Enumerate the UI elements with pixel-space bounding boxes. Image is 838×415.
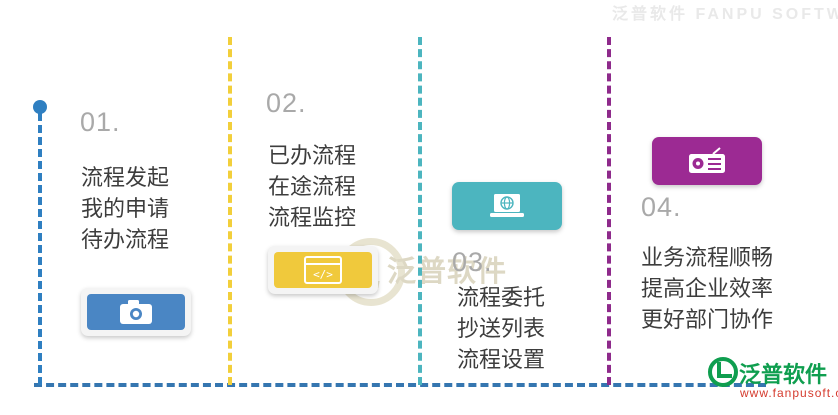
column-2-line — [228, 37, 232, 385]
column-2-number: 02. — [266, 88, 307, 119]
bottom-axis-line — [34, 383, 766, 387]
column-2-line-2: 在途流程 — [268, 172, 356, 203]
column-1-number: 01. — [80, 107, 121, 138]
code-icon-inner: </> — [274, 252, 372, 288]
svg-text:</>: </> — [313, 268, 333, 281]
infographic-canvas: 泛普软件 FANPU SOFTWARE 泛普软件 01. 流程发起 我的申请 待… — [0, 0, 838, 415]
column-4-number: 04. — [641, 192, 682, 223]
camera-icon-inner — [87, 294, 185, 330]
radio-icon — [687, 147, 727, 175]
column-4-line-3: 更好部门协作 — [641, 305, 773, 336]
column-1-text: 流程发起 我的申请 待办流程 — [81, 163, 169, 256]
brand-logo: 泛普软件 www.fanpusoft.com — [706, 355, 830, 405]
column-3-line — [418, 37, 422, 385]
column-3-number: 03. — [452, 247, 493, 278]
column-1-line-3: 待办流程 — [81, 225, 169, 256]
brand-name: 泛普软件 — [739, 357, 827, 389]
brand-ring-icon — [706, 355, 740, 389]
code-icon: </> — [304, 256, 342, 284]
camera-icon-card[interactable] — [81, 288, 191, 336]
column-3-line-2: 抄送列表 — [457, 314, 545, 345]
column-1-line-2: 我的申请 — [81, 194, 169, 225]
column-2-text: 已办流程 在途流程 流程监控 — [268, 141, 356, 234]
column-4-line-1: 业务流程顺畅 — [641, 243, 773, 274]
column-3-line-3: 流程设置 — [457, 345, 545, 376]
radio-icon-card[interactable] — [652, 137, 762, 185]
watermark-top-text: 泛普软件 FANPU SOFTWARE — [612, 0, 838, 24]
column-1-line-1: 流程发起 — [81, 163, 169, 194]
column-4-line — [607, 37, 611, 385]
column-3-text: 流程委托 抄送列表 流程设置 — [457, 283, 545, 376]
column-2-line-3: 流程监控 — [268, 203, 356, 234]
laptop-globe-icon-card[interactable] — [452, 182, 562, 230]
column-4-text: 业务流程顺畅 提高企业效率 更好部门协作 — [641, 243, 773, 336]
laptop-globe-icon — [489, 192, 525, 220]
camera-icon — [119, 299, 153, 325]
code-icon-card[interactable]: </> — [268, 246, 378, 294]
column-1-dot — [33, 100, 47, 114]
brand-url: www.fanpusoft.com — [740, 386, 838, 400]
column-3-line-1: 流程委托 — [457, 283, 545, 314]
column-4-line-2: 提高企业效率 — [641, 274, 773, 305]
column-2-line-1: 已办流程 — [268, 141, 356, 172]
column-1-line — [38, 113, 42, 385]
